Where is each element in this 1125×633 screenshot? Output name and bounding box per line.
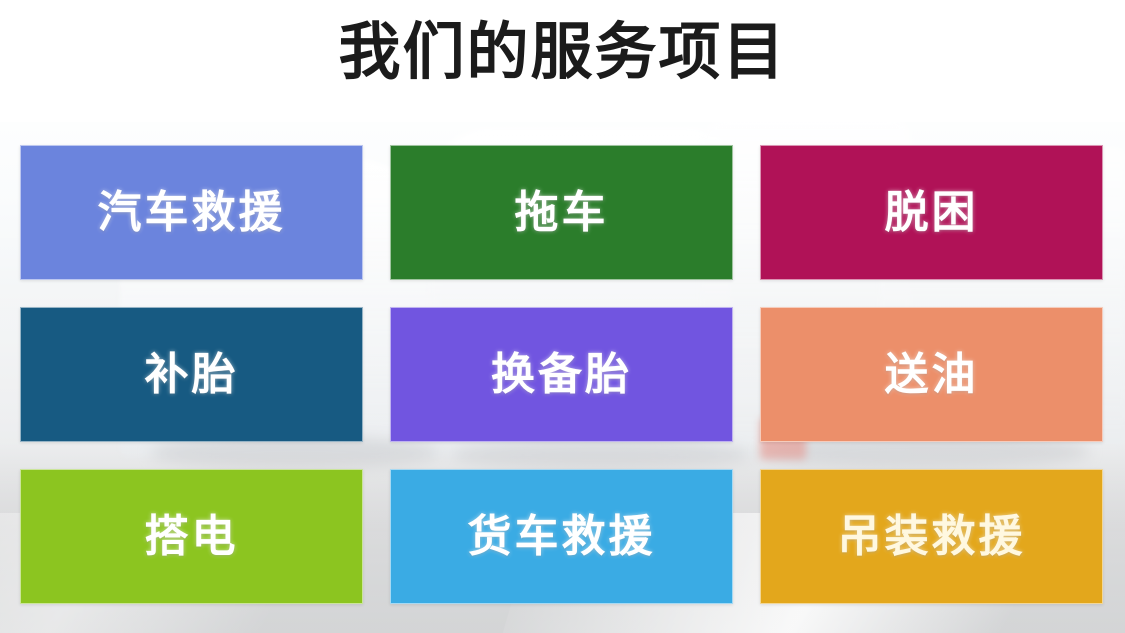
tile-car-rescue[interactable]: 汽车救援 <box>20 145 363 280</box>
tile-spare-tire-change[interactable]: 换备胎 <box>390 307 733 442</box>
tile-label: 拖车 <box>515 191 609 235</box>
tile-label: 吊装救援 <box>838 515 1026 559</box>
tile-tow-truck[interactable]: 拖车 <box>390 145 733 280</box>
tile-label: 货车救援 <box>468 515 656 559</box>
tile-label: 换备胎 <box>491 353 632 397</box>
tile-jump-start[interactable]: 搭电 <box>20 469 363 604</box>
tile-fuel-delivery[interactable]: 送油 <box>760 307 1103 442</box>
service-poster: 我们的服务项目 汽车救援拖车脱困补胎换备胎送油搭电货车救援吊装救援 <box>0 0 1125 633</box>
tile-truck-rescue[interactable]: 货车救援 <box>390 469 733 604</box>
service-grid: 汽车救援拖车脱困补胎换备胎送油搭电货车救援吊装救援 <box>20 145 1103 605</box>
header-bar: 我们的服务项目 <box>0 0 1125 122</box>
tile-extrication[interactable]: 脱困 <box>760 145 1103 280</box>
tile-label: 送油 <box>885 353 979 397</box>
tile-label: 脱困 <box>885 191 979 235</box>
page-title: 我们的服务项目 <box>338 22 786 100</box>
tile-label: 补胎 <box>145 353 239 397</box>
tile-tire-repair[interactable]: 补胎 <box>20 307 363 442</box>
tile-hoisting-rescue[interactable]: 吊装救援 <box>760 469 1103 604</box>
tile-label: 汽车救援 <box>98 191 286 235</box>
tile-label: 搭电 <box>145 515 239 559</box>
